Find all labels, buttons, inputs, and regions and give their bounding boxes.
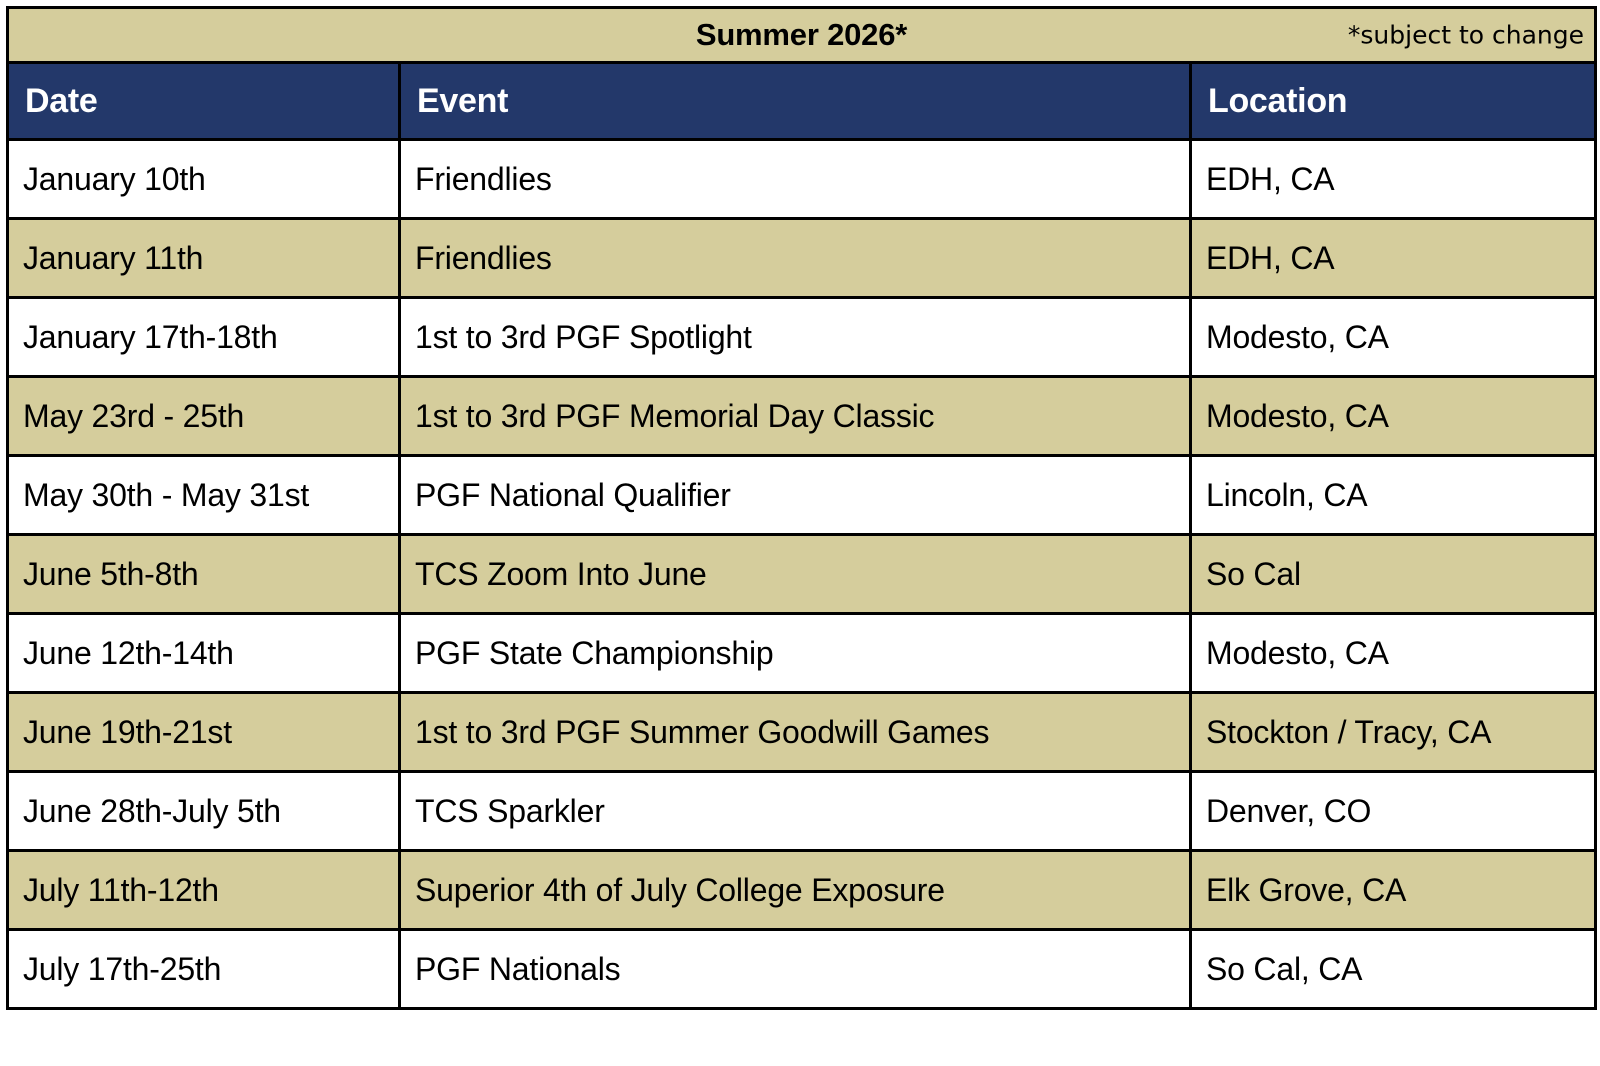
table-row: January 17th-18th1st to 3rd PGF Spotligh…: [8, 298, 1596, 377]
cell-date: May 23rd - 25th: [8, 377, 400, 456]
table-row: June 19th-21st1st to 3rd PGF Summer Good…: [8, 693, 1596, 772]
cell-date: June 19th-21st: [8, 693, 400, 772]
title-inner: Summer 2026* *subject to change: [9, 9, 1594, 61]
cell-date: June 5th-8th: [8, 535, 400, 614]
cell-event: Friendlies: [400, 219, 1191, 298]
cell-date: June 12th-14th: [8, 614, 400, 693]
table-head: Summer 2026* *subject to change Date Eve…: [8, 8, 1596, 140]
cell-date: January 11th: [8, 219, 400, 298]
cell-location: Denver, CO: [1191, 772, 1596, 851]
cell-event: PGF National Qualifier: [400, 456, 1191, 535]
table-row: January 10thFriendliesEDH, CA: [8, 140, 1596, 219]
schedule-container: Summer 2026* *subject to change Date Eve…: [0, 0, 1600, 1066]
cell-date: May 30th - May 31st: [8, 456, 400, 535]
cell-event: Superior 4th of July College Exposure: [400, 851, 1191, 930]
cell-event: 1st to 3rd PGF Summer Goodwill Games: [400, 693, 1191, 772]
table-row: July 17th-25thPGF NationalsSo Cal, CA: [8, 930, 1596, 1009]
cell-event: 1st to 3rd PGF Spotlight: [400, 298, 1191, 377]
table-row: June 12th-14thPGF State ChampionshipMode…: [8, 614, 1596, 693]
cell-event: PGF State Championship: [400, 614, 1191, 693]
cell-event: TCS Zoom Into June: [400, 535, 1191, 614]
column-header-date[interactable]: Date: [8, 63, 400, 140]
cell-event: TCS Sparkler: [400, 772, 1191, 851]
table-row: May 30th - May 31stPGF National Qualifie…: [8, 456, 1596, 535]
cell-event: PGF Nationals: [400, 930, 1191, 1009]
cell-location: Modesto, CA: [1191, 298, 1596, 377]
table-body: January 10thFriendliesEDH, CAJanuary 11t…: [8, 140, 1596, 1009]
cell-event: 1st to 3rd PGF Memorial Day Classic: [400, 377, 1191, 456]
cell-event: Friendlies: [400, 140, 1191, 219]
table-title-cell: Summer 2026* *subject to change: [8, 8, 1596, 63]
cell-location: EDH, CA: [1191, 219, 1596, 298]
cell-location: Modesto, CA: [1191, 377, 1596, 456]
column-header-row: Date Event Location: [8, 63, 1596, 140]
cell-date: January 17th-18th: [8, 298, 400, 377]
cell-location: Elk Grove, CA: [1191, 851, 1596, 930]
cell-date: June 28th-July 5th: [8, 772, 400, 851]
table-title-row: Summer 2026* *subject to change: [8, 8, 1596, 63]
column-header-location[interactable]: Location: [1191, 63, 1596, 140]
cell-date: January 10th: [8, 140, 400, 219]
cell-location: Stockton / Tracy, CA: [1191, 693, 1596, 772]
cell-location: EDH, CA: [1191, 140, 1596, 219]
cell-location: So Cal: [1191, 535, 1596, 614]
summer-schedule-table: Summer 2026* *subject to change Date Eve…: [6, 6, 1597, 1010]
table-row: June 5th-8thTCS Zoom Into JuneSo Cal: [8, 535, 1596, 614]
subject-to-change-note: *subject to change: [1348, 21, 1584, 50]
table-row: January 11thFriendliesEDH, CA: [8, 219, 1596, 298]
column-header-event[interactable]: Event: [400, 63, 1191, 140]
cell-date: July 17th-25th: [8, 930, 400, 1009]
cell-location: Lincoln, CA: [1191, 456, 1596, 535]
table-row: June 28th-July 5thTCS SparklerDenver, CO: [8, 772, 1596, 851]
table-row: July 11th-12thSuperior 4th of July Colle…: [8, 851, 1596, 930]
cell-date: July 11th-12th: [8, 851, 400, 930]
table-row: May 23rd - 25th1st to 3rd PGF Memorial D…: [8, 377, 1596, 456]
cell-location: So Cal, CA: [1191, 930, 1596, 1009]
cell-location: Modesto, CA: [1191, 614, 1596, 693]
